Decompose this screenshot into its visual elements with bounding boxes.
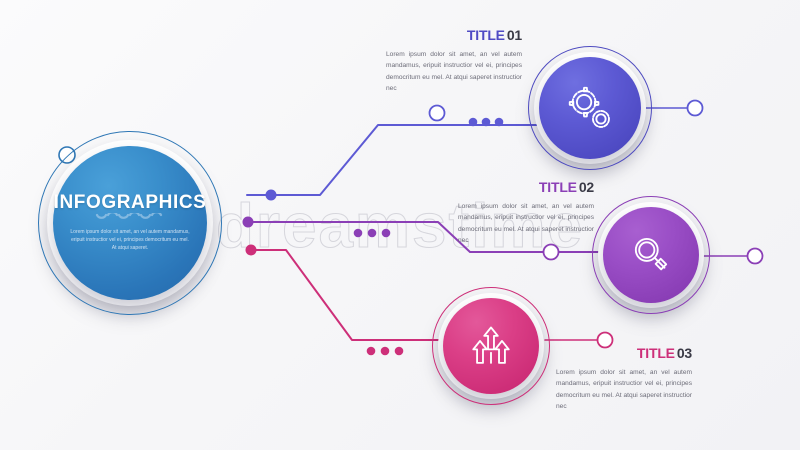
section-text-01: TITLE01 Lorem ipsum dolor sit amet, an v…	[386, 28, 522, 94]
branch-end-marker-02	[748, 249, 763, 264]
section-title-label-03: TITLE	[637, 345, 675, 361]
section-text-02: TITLE02 Lorem ipsum dolor sit amet, an v…	[458, 180, 594, 246]
section-title-label-02: TITLE	[539, 179, 577, 195]
branch-end-marker-01	[688, 101, 703, 116]
branch-start-dot-01	[266, 190, 277, 201]
section-body-01: Lorem ipsum dolor sit amet, an vel autem…	[386, 49, 522, 94]
section-node-01[interactable]	[528, 46, 652, 170]
node-outer-ring-03	[432, 287, 550, 405]
branch-node-marker-01	[430, 106, 445, 121]
section-body-03: Lorem ipsum dolor sit amet, an vel autem…	[556, 367, 692, 412]
branch-start-dot-02	[243, 217, 254, 228]
accent-dot	[382, 229, 391, 238]
accent-dot	[495, 118, 504, 127]
hub-outer-ring	[38, 131, 222, 315]
node-outer-ring-01	[528, 46, 652, 170]
accent-dot	[368, 229, 377, 238]
section-title-03: TITLE03	[556, 346, 692, 360]
branch-node-marker-02	[544, 245, 559, 260]
accent-dot	[354, 229, 363, 238]
section-title-01: TITLE01	[386, 28, 522, 42]
section-number-03: 03	[677, 345, 692, 361]
accent-dot	[482, 118, 491, 127]
section-title-02: TITLE02	[458, 180, 594, 194]
accent-dot	[469, 118, 478, 127]
section-number-01: 01	[507, 27, 522, 43]
accent-dot	[381, 347, 390, 356]
section-body-02: Lorem ipsum dolor sit amet, an vel autem…	[458, 201, 594, 246]
section-title-label-01: TITLE	[467, 27, 505, 43]
branch-start-dot-03	[246, 245, 257, 256]
infographic-canvas: dreamstime	[0, 0, 800, 450]
node-outer-ring-02	[592, 196, 710, 314]
connector-branch-03	[246, 245, 613, 356]
section-text-03: TITLE03 Lorem ipsum dolor sit amet, an v…	[556, 346, 692, 412]
accent-dot	[367, 347, 376, 356]
section-number-02: 02	[579, 179, 594, 195]
section-node-03[interactable]	[432, 287, 550, 405]
hub-node-infographics[interactable]: INFOGRAPHICS Lorem ipsum dolor sit amet,…	[38, 131, 222, 315]
accent-dot	[395, 347, 404, 356]
section-node-02[interactable]	[592, 196, 710, 314]
